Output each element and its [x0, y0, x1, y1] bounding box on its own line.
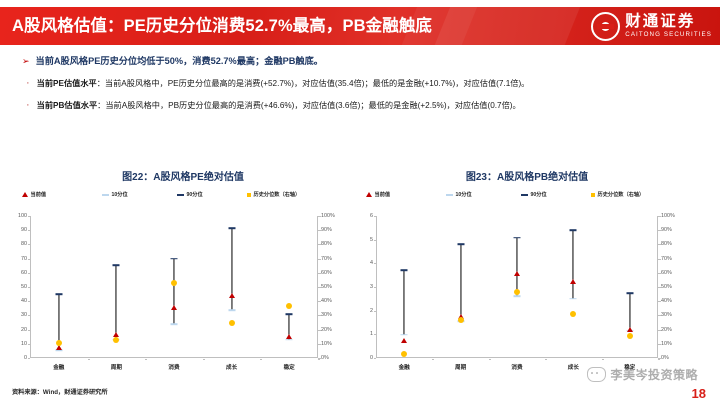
current-value-marker [570, 279, 576, 284]
y2-axis-tick-label: 70% [321, 256, 332, 262]
y2-axis-tick-label: 90% [321, 227, 332, 233]
x-axis-tick [545, 359, 547, 360]
square-yellow-icon [591, 193, 595, 197]
p10-marker [171, 323, 178, 325]
current-value-marker [229, 293, 235, 298]
current-value-marker [514, 271, 520, 276]
y-axis-tick-label: 90 [21, 227, 27, 233]
y2-axis-tick-label: 40% [661, 298, 672, 304]
company-logo: 财通证券 CAITONG SECURITIES [591, 11, 712, 41]
bullet-pb-line: 当前PB估值水平：当前A股风格中，PB历史分位最高的是消费(+46.6%)，对应… [37, 99, 521, 112]
percentile-marker [401, 351, 407, 357]
y2-axis-tick-label: 50% [321, 284, 332, 290]
slide: A股风格估值：PE历史分位消费52.7%最高，PB金融触底 财通证券 CAITO… [0, 0, 720, 405]
y-axis-tick [28, 358, 31, 359]
y2-axis-tick-label: 20% [661, 327, 672, 333]
y-axis-tick [374, 287, 377, 288]
x-axis-category-label: 金融 [399, 363, 410, 371]
chart-legend-fig22: 当前值 10分位 90分位 历史分位数（右轴） [22, 191, 352, 198]
y2-axis-tick-label: 60% [321, 270, 332, 276]
y2-axis-tick [318, 344, 321, 345]
y2-axis-tick [318, 259, 321, 260]
x-axis-category-label: 成长 [226, 363, 237, 371]
y-axis-tick-label: 20 [21, 327, 27, 333]
x-axis-tick [432, 359, 434, 360]
whisker-line [629, 293, 630, 331]
y-axis-tick-label: 40 [21, 298, 27, 304]
y2-axis-tick-label: 80% [661, 241, 672, 247]
x-axis-tick [602, 359, 604, 360]
y2-axis-tick-label: 60% [661, 270, 672, 276]
percentile-marker [56, 340, 62, 346]
p10-marker [570, 298, 577, 300]
legend-label: 当前值 [375, 191, 391, 198]
whisker-line [116, 265, 117, 340]
p90-marker [457, 243, 464, 245]
whisker-line [404, 270, 405, 335]
legend-item-p10: 10分位 [102, 191, 177, 198]
y-axis-tick [28, 230, 31, 231]
p90-marker [228, 227, 235, 229]
y2-axis-tick-label: 100% [321, 213, 335, 219]
y-axis-tick-label: 100 [18, 213, 27, 219]
y2-axis-tick [318, 330, 321, 331]
caitong-logo-icon [591, 12, 620, 41]
y2-axis-tick-label: 80% [321, 241, 332, 247]
y-axis-tick [28, 216, 31, 217]
y2-axis-tick [658, 287, 661, 288]
triangle-red-icon [366, 192, 372, 197]
p90-marker [286, 313, 293, 315]
x-axis-tick [145, 359, 147, 360]
y-axis-tick [374, 311, 377, 312]
x-axis-category-label: 成长 [568, 363, 579, 371]
p90-marker [171, 258, 178, 260]
y-axis-tick [28, 287, 31, 288]
chart-legend-fig23: 当前值 10分位 90分位 历史分位数（右轴） [366, 191, 696, 198]
brand-name-cn: 财通证券 [625, 14, 712, 30]
y2-axis-tick [658, 315, 661, 316]
x-axis-line [376, 357, 658, 358]
y-axis-tick [374, 263, 377, 264]
y2-axis-tick [658, 244, 661, 245]
y2-axis-tick [658, 216, 661, 217]
y-axis-tick [28, 344, 31, 345]
bullet-pe-lead: 当前PE估值水平 [37, 79, 97, 88]
x-axis-category-label: 稳定 [284, 363, 295, 371]
page-title: A股风格估值：PE历史分位消费52.7%最高，PB金融触底 [12, 7, 432, 45]
y2-axis-tick [318, 301, 321, 302]
bullet-pe-body: ：当前A股风格中，PE历史分位最高的是消费(+52.7%)，对应估值(35.4倍… [97, 79, 530, 88]
legend-label: 当前值 [31, 191, 47, 198]
x-axis-category-label: 金融 [53, 363, 64, 371]
percentile-marker [171, 280, 177, 286]
p10-marker [286, 339, 293, 341]
legend-label: 历史分位数（右轴） [598, 191, 645, 198]
percentile-marker [286, 303, 292, 309]
p90-marker [514, 237, 521, 239]
y2-axis-tick-label: 0% [321, 355, 329, 361]
logo-text: 财通证券 CAITONG SECURITIES [625, 14, 712, 39]
legend-label: 10分位 [112, 191, 128, 198]
y-axis-tick [28, 315, 31, 316]
x-axis-tick [658, 359, 660, 360]
legend-label: 历史分位数（右轴） [254, 191, 301, 198]
arrow-bullet-icon: ➢ [22, 55, 30, 68]
chart-title-fig22: 图22：A股风格PE绝对估值 [18, 168, 348, 183]
chart-title-fig23: 图23：A股风格PB绝对估值 [362, 168, 692, 183]
y2-axis-tick-label: 50% [661, 284, 672, 290]
percentile-marker [458, 317, 464, 323]
source-note: 资料来源：Wind，财通证券研究所 [12, 387, 108, 396]
bullet-pe-line: 当前PE估值水平：当前A股风格中，PE历史分位最高的是消费(+52.7%)，对应… [37, 77, 530, 90]
whisker-line [516, 238, 517, 297]
page-number: 18 [692, 386, 706, 401]
legend-label: 90分位 [187, 191, 203, 198]
x-axis-category-label: 消费 [168, 363, 179, 371]
y2-axis-tick-label: 70% [661, 256, 672, 262]
legend-item-p90: 90分位 [177, 191, 247, 198]
percentile-marker [113, 337, 119, 343]
y2-axis-tick [658, 230, 661, 231]
y2-axis-tick [318, 244, 321, 245]
percentile-marker [229, 320, 235, 326]
y-axis-tick-label: 70 [21, 256, 27, 262]
y-axis-tick [28, 244, 31, 245]
p10-marker [514, 296, 521, 298]
x-axis-tick [203, 359, 205, 360]
legend-item-percentile: 历史分位数（右轴） [247, 191, 300, 198]
percentile-marker [514, 289, 520, 295]
bullet-item-summary: ➢ 当前A股风格PE历史分位均低于50%，消费52.7%最高；金融PB触底。 [22, 55, 702, 68]
chart-plot-fig22: 01020304050607080901000%10%20%30%40%50%6… [30, 216, 318, 358]
y2-axis-tick [318, 315, 321, 316]
x-axis-tick [88, 359, 90, 360]
watermark: 李美岑投资策略 [587, 366, 698, 383]
x-axis-category-label: 周期 [111, 363, 122, 371]
dot-bullet-icon: · [26, 77, 30, 90]
legend-item-p90: 90分位 [521, 191, 591, 198]
y2-axis-tick [318, 230, 321, 231]
y-axis-tick [374, 240, 377, 241]
whisker-line [173, 259, 174, 324]
x-axis-tick [318, 359, 320, 360]
legend-item-current: 当前值 [22, 191, 102, 198]
y2-axis-tick [658, 330, 661, 331]
bullet-pb-lead: 当前PB估值水平 [37, 101, 98, 110]
y2-axis-tick [318, 273, 321, 274]
watermark-text: 李美岑投资策略 [610, 366, 698, 383]
current-value-marker [113, 332, 119, 337]
whisker-line [460, 244, 461, 321]
triangle-red-icon [22, 192, 28, 197]
p90-marker [113, 264, 120, 266]
y2-axis-tick-label: 90% [661, 227, 672, 233]
square-yellow-icon [247, 193, 251, 197]
y-axis-tick [28, 301, 31, 302]
dash-light-blue-icon [102, 194, 109, 196]
y2-axis-tick-label: 100% [661, 213, 675, 219]
y2-axis-tick-label: 10% [661, 341, 672, 347]
y-axis-tick [28, 273, 31, 274]
y-axis-tick [374, 334, 377, 335]
legend-label: 90分位 [531, 191, 547, 198]
p90-marker [570, 229, 577, 231]
chart-plot-fig23: 01234560%10%20%30%40%50%60%70%80%90%100%… [376, 216, 658, 358]
p10-marker [228, 310, 235, 312]
legend-label: 10分位 [456, 191, 472, 198]
current-value-marker [627, 327, 633, 332]
percentile-marker [627, 333, 633, 339]
y-axis-tick [374, 216, 377, 217]
y2-axis-tick-label: 30% [321, 312, 332, 318]
percentile-marker [570, 311, 576, 317]
y2-axis-tick [658, 273, 661, 274]
legend-item-current: 当前值 [366, 191, 446, 198]
brand-name-en: CAITONG SECURITIES [625, 32, 712, 38]
x-axis-category-label: 消费 [511, 363, 522, 371]
p90-marker [626, 292, 633, 294]
y2-axis-tick [658, 259, 661, 260]
current-value-marker [171, 305, 177, 310]
bullet-pb-body: ：当前A股风格中，PB历史分位最高的是消费(+46.6%)，对应估值(3.6倍)… [97, 101, 521, 110]
x-axis-tick [260, 359, 262, 360]
y2-axis-tick [658, 344, 661, 345]
p90-marker [55, 293, 62, 295]
y-axis-line [30, 216, 31, 358]
bullet-list: ➢ 当前A股风格PE历史分位均低于50%，消费52.7%最高；金融PB触底。 ·… [22, 55, 702, 121]
y2-axis-tick-label: 10% [321, 341, 332, 347]
y-axis-tick-label: 60 [21, 270, 27, 276]
legend-item-percentile: 历史分位数（右轴） [591, 191, 644, 198]
p90-marker [401, 269, 408, 271]
legend-item-p10: 10分位 [446, 191, 521, 198]
slide-header: A股风格估值：PE历史分位消费52.7%最高，PB金融触底 财通证券 CAITO… [0, 7, 720, 45]
whisker-line [573, 230, 574, 299]
y2-axis-tick-label: 0% [661, 355, 669, 361]
p10-marker [401, 334, 408, 336]
dash-light-blue-icon [446, 194, 453, 196]
y-axis-tick-label: 80 [21, 241, 27, 247]
current-value-marker [401, 338, 407, 343]
bullet-item-pb: · 当前PB估值水平：当前A股风格中，PB历史分位最高的是消费(+46.6%)，… [22, 99, 702, 112]
y-axis-tick-label: 50 [21, 284, 27, 290]
y2-axis-tick [658, 301, 661, 302]
y-axis-tick [28, 259, 31, 260]
dash-dark-blue-icon [177, 194, 184, 196]
y-axis-tick [28, 330, 31, 331]
dot-bullet-icon: · [26, 99, 30, 112]
x-axis-line [30, 357, 318, 358]
y2-axis-tick [318, 287, 321, 288]
wechat-logo-icon [587, 367, 606, 382]
dash-dark-blue-icon [521, 194, 528, 196]
y-axis-line [376, 216, 377, 358]
y2-axis-tick [318, 216, 321, 217]
x-axis-category-label: 周期 [455, 363, 466, 371]
current-value-marker [286, 334, 292, 339]
y-axis-tick-label: 10 [21, 341, 27, 347]
y2-axis-tick-label: 30% [661, 312, 672, 318]
y-axis-tick [374, 358, 377, 359]
y2-axis-tick-label: 40% [321, 298, 332, 304]
y-axis-tick-label: 30 [21, 312, 27, 318]
bullet-item-pe: · 当前PE估值水平：当前A股风格中，PE历史分位最高的是消费(+52.7%)，… [22, 77, 702, 90]
bullet-summary-text: 当前A股风格PE历史分位均低于50%，消费52.7%最高；金融PB触底。 [36, 55, 323, 68]
x-axis-tick [489, 359, 491, 360]
y2-axis-tick-label: 20% [321, 327, 332, 333]
